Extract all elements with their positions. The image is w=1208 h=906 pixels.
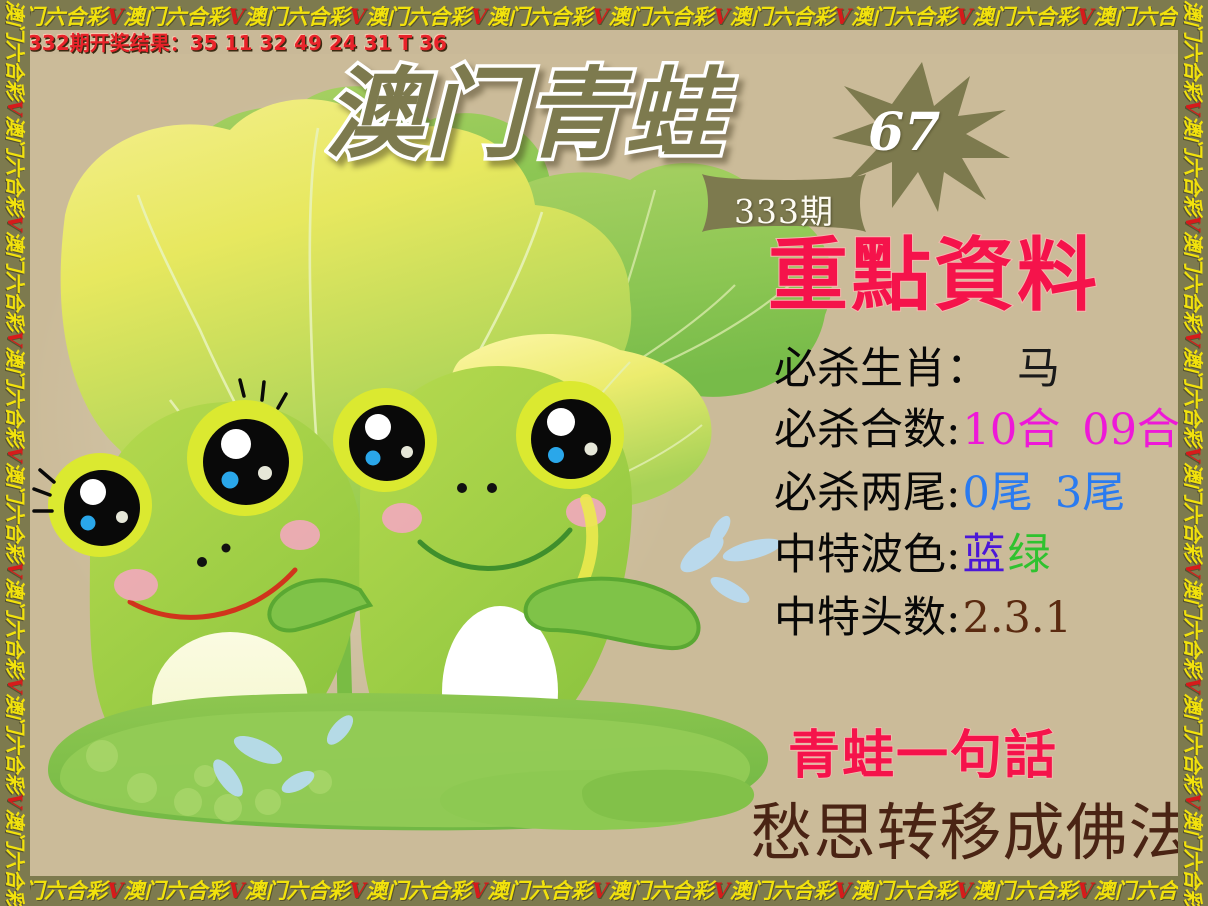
phrase-title: 青蛙一句話 bbox=[788, 728, 1058, 784]
row-label-head: 中特头数: bbox=[774, 593, 961, 643]
border-top: 澳门六合彩V澳门六合彩V澳门六合彩V澳门六合彩V澳门六合彩V澳门六合彩V澳门六合… bbox=[0, 0, 1208, 30]
row-value-color-green: 绿 bbox=[1008, 530, 1051, 580]
row-value-zodiac: 马 bbox=[1017, 344, 1060, 394]
info-row-head: 中特头数:2.3.1 bbox=[774, 595, 1072, 641]
row-value-tail-a: 0尾 bbox=[963, 468, 1033, 518]
panel-heading: 重點資料 bbox=[768, 235, 1100, 317]
row-value-sum-a: 10合 bbox=[963, 405, 1061, 455]
info-row-tails: 必杀两尾:0尾3尾 bbox=[774, 470, 1125, 516]
info-row-color: 中特波色:蓝绿 bbox=[774, 532, 1051, 578]
border-left: 澳门六合彩V澳门六合彩V澳门六合彩V澳门六合彩V澳门六合彩V澳门六合彩V澳门六合… bbox=[0, 0, 30, 906]
row-value-color-blue: 蓝 bbox=[963, 530, 1006, 580]
info-row-sum: 必杀合数:10合09合 bbox=[774, 407, 1178, 453]
row-value-head: 2.3.1 bbox=[963, 593, 1072, 643]
row-label-tails: 必杀两尾: bbox=[774, 468, 961, 518]
border-text-top: 澳门六合彩V澳门六合彩V澳门六合彩V澳门六合彩V澳门六合彩V澳门六合彩V澳门六合… bbox=[2, 2, 1208, 30]
border-text-bottom: 澳门六合彩V澳门六合彩V澳门六合彩V澳门六合彩V澳门六合彩V澳门六合彩V澳门六合… bbox=[2, 876, 1208, 906]
phrase-body: 愁思转移成佛法 bbox=[736, 800, 1178, 866]
page-title: 澳门青蛙 bbox=[325, 65, 725, 165]
poster-root: 332期开奖结果：35 11 32 49 24 31 T 36 67 333期 … bbox=[0, 0, 1208, 906]
info-panel: 重點資料 必杀生肖：马 必杀合数:10合09合 必杀两尾:0尾3尾 中特波色:蓝… bbox=[746, 30, 1178, 876]
row-label-sum: 必杀合数: bbox=[774, 405, 961, 455]
result-text: 332期开奖结果：35 11 32 49 24 31 T 36 bbox=[30, 30, 447, 56]
border-text-right: 澳门六合彩V澳门六合彩V澳门六合彩V澳门六合彩V澳门六合彩V澳门六合彩V澳门六合… bbox=[1178, 0, 1208, 906]
row-label-zodiac: 必杀生肖： bbox=[774, 344, 989, 394]
result-bar: 332期开奖结果：35 11 32 49 24 31 T 36 bbox=[30, 30, 1178, 54]
border-text-left: 澳门六合彩V澳门六合彩V澳门六合彩V澳门六合彩V澳门六合彩V澳门六合彩V澳门六合… bbox=[0, 0, 30, 906]
border-right: 澳门六合彩V澳门六合彩V澳门六合彩V澳门六合彩V澳门六合彩V澳门六合彩V澳门六合… bbox=[1178, 0, 1208, 906]
info-row-zodiac: 必杀生肖：马 bbox=[774, 346, 1060, 392]
row-label-color: 中特波色: bbox=[774, 530, 961, 580]
row-value-tail-b: 3尾 bbox=[1055, 468, 1125, 518]
border-bottom: 澳门六合彩V澳门六合彩V澳门六合彩V澳门六合彩V澳门六合彩V澳门六合彩V澳门六合… bbox=[0, 876, 1208, 906]
row-value-sum-b: 09合 bbox=[1082, 405, 1178, 455]
poster-plate: 332期开奖结果：35 11 32 49 24 31 T 36 67 333期 … bbox=[30, 30, 1178, 876]
